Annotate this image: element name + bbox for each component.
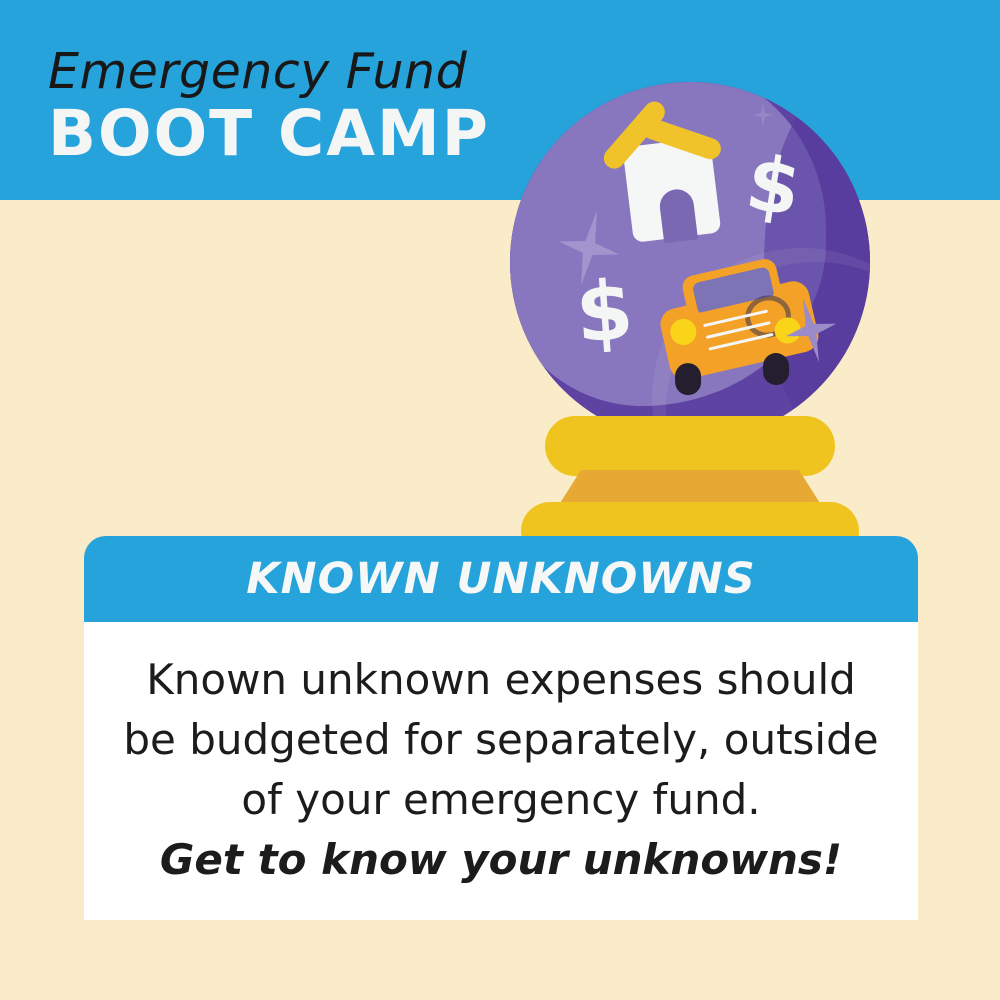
car-wheel (763, 353, 790, 385)
card-body-line: be budgeted for separately, outside (84, 710, 918, 770)
dollar-sign-icon: $ (573, 270, 636, 356)
card-header: KNOWN UNKNOWNS (84, 536, 918, 622)
card-body-line: of your emergency fund. (84, 770, 918, 830)
car-wheel (675, 363, 702, 395)
card-body: Known unknown expenses should be budgete… (84, 622, 918, 920)
house-icon (603, 103, 738, 247)
title-block: Emergency Fund BOOT CAMP (48, 44, 568, 170)
card-body-line: Known unknown expenses should (84, 650, 918, 710)
infographic-poster: Emergency Fund BOOT CAMP $ $ (0, 0, 1000, 1000)
globe-base-top (545, 416, 835, 476)
snow-globe-illustration: $ $ (505, 78, 875, 528)
globe-sphere: $ $ (510, 82, 870, 442)
page-title: BOOT CAMP (48, 98, 568, 170)
content-card: KNOWN UNKNOWNS Known unknown expenses sh… (84, 536, 918, 920)
page-subtitle: Emergency Fund (48, 44, 568, 100)
card-body-emphasis: Get to know your unknowns! (84, 830, 918, 890)
card-header-label: KNOWN UNKNOWNS (246, 554, 755, 604)
